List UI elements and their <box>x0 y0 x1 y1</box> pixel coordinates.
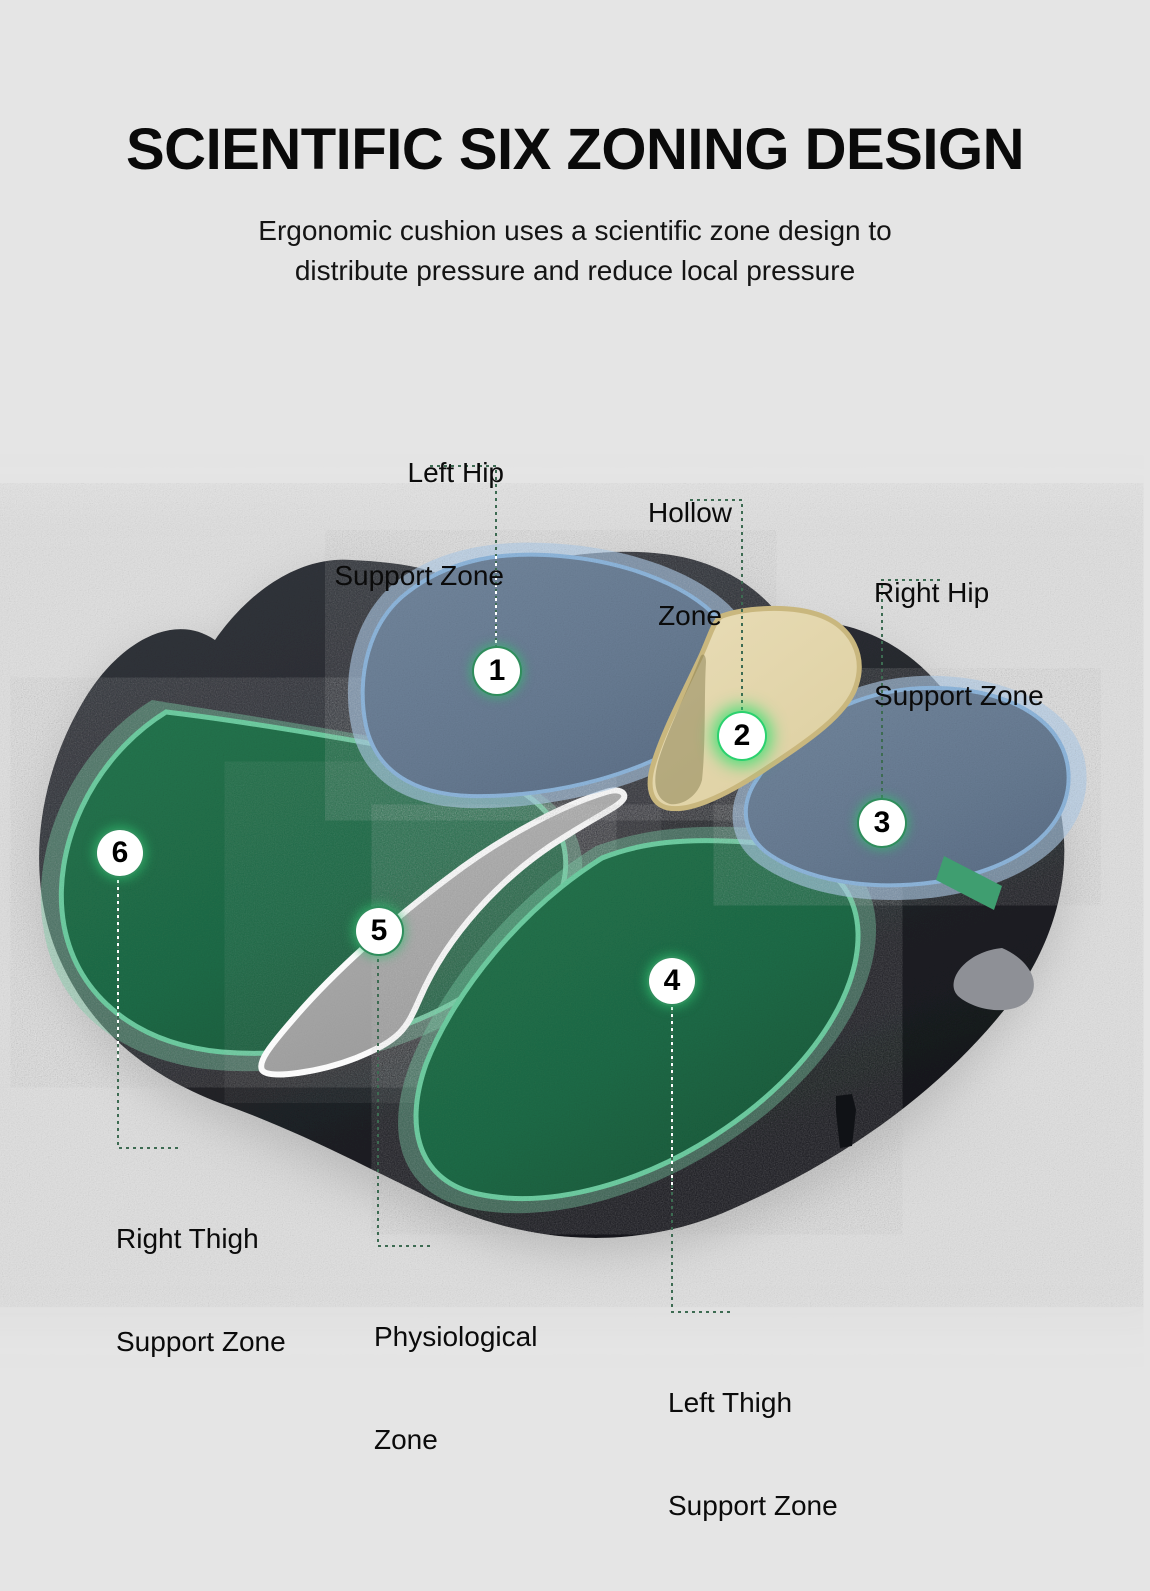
zone-label-physiological-line1: Physiological <box>374 1320 614 1354</box>
zone-label-right-hip-line1: Right Hip <box>874 576 1114 610</box>
zone-badge-3[interactable]: 3 <box>859 800 905 846</box>
zone-label-left-thigh-line2: Support Zone <box>668 1489 918 1523</box>
zone-badge-6[interactable]: 6 <box>97 830 143 876</box>
zone-label-left-hip-line1: Left Hip <box>262 456 504 490</box>
zone-label-left-thigh-line1: Left Thigh <box>668 1386 918 1420</box>
zone-badge-4[interactable]: 4 <box>649 958 695 1004</box>
zone-label-physiological: Physiological Zone <box>374 1252 614 1525</box>
zone-label-right-thigh-support: Right Thigh Support Zone <box>116 1154 366 1427</box>
zone-label-right-thigh-line2: Support Zone <box>116 1325 366 1359</box>
zone-label-physiological-line2: Zone <box>374 1423 614 1457</box>
zone-label-hollow: Hollow Zone <box>620 428 760 701</box>
zone-label-right-hip-line2: Support Zone <box>874 679 1114 713</box>
zone-label-left-hip-support: Left Hip Support Zone <box>262 388 504 661</box>
zone-label-hollow-line1: Hollow <box>620 496 760 530</box>
zone-label-left-thigh-support: Left Thigh Support Zone <box>668 1318 918 1591</box>
zone-label-left-hip-line2: Support Zone <box>262 559 504 593</box>
cushion-diagram: 1 2 3 4 5 6 Left Hip Support Zone Hollow… <box>0 0 1150 1499</box>
infographic-page: SCIENTIFIC SIX ZONING DESIGN Ergonomic c… <box>0 0 1150 1499</box>
zone-label-right-thigh-line1: Right Thigh <box>116 1222 366 1256</box>
zone-badge-2[interactable]: 2 <box>719 713 765 759</box>
zone-label-hollow-line2: Zone <box>620 599 760 633</box>
zone-label-right-hip-support: Right Hip Support Zone <box>874 508 1114 781</box>
zone-badge-5[interactable]: 5 <box>356 908 402 954</box>
zone-badge-1[interactable]: 1 <box>474 648 520 694</box>
